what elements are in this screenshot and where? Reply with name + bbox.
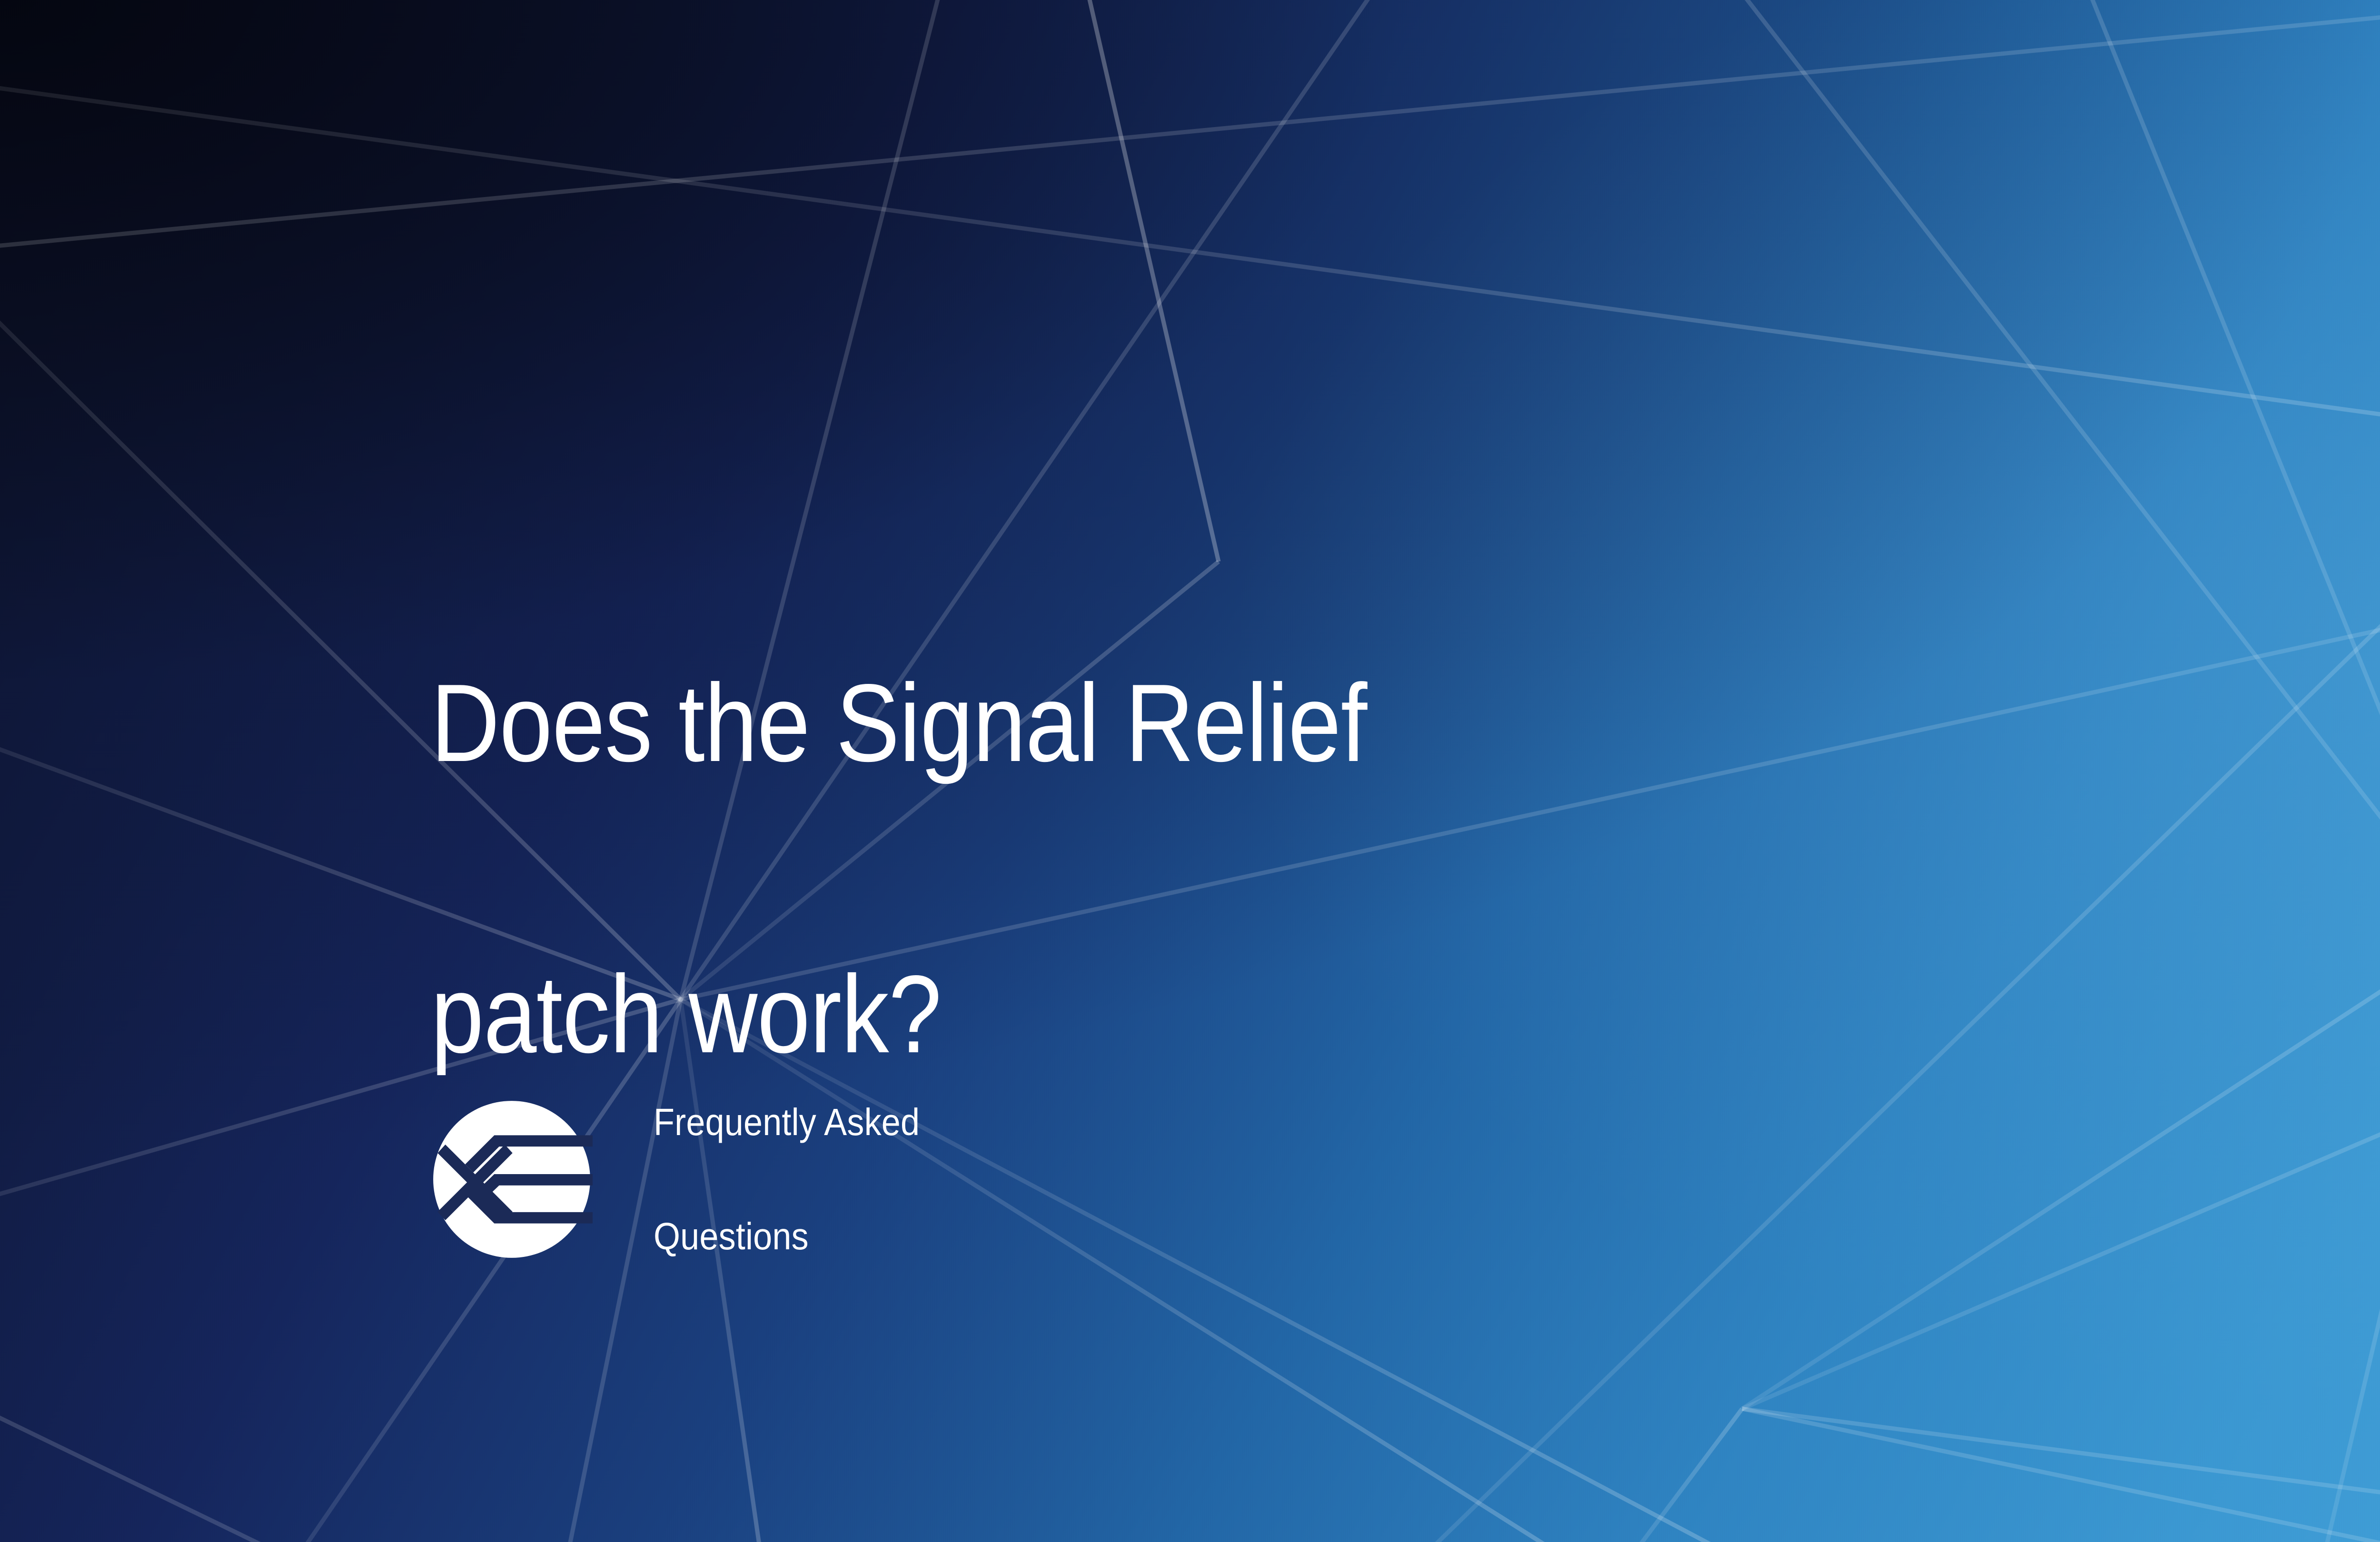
slide-content: Does the Signal Relief patch work? bbox=[431, 0, 2380, 1542]
faq-label: Frequently Asked Questions bbox=[654, 1037, 920, 1322]
faq-title-slide: Does the Signal Relief patch work? bbox=[0, 0, 2380, 1542]
signal-relief-logo-icon bbox=[431, 1098, 593, 1260]
headline-line-1: Does the Signal Relief bbox=[431, 651, 1831, 796]
faq-label-line-2: Questions bbox=[654, 1208, 920, 1265]
faq-label-line-1: Frequently Asked bbox=[654, 1094, 920, 1151]
slide-footer: Frequently Asked Questions bbox=[431, 1037, 949, 1322]
